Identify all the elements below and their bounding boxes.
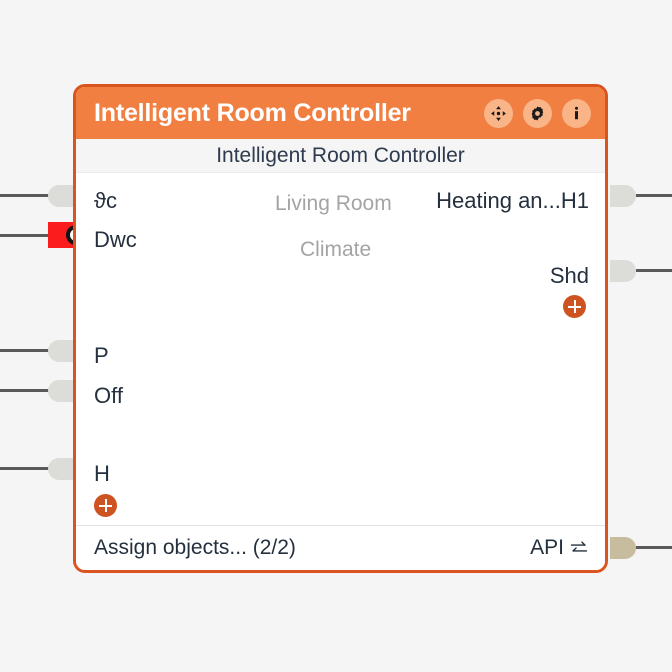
input-wire-p <box>0 349 50 352</box>
swap-icon <box>569 538 589 558</box>
node-footer: Assign objects... (2/2) API <box>76 525 605 570</box>
settings-button[interactable] <box>523 99 552 128</box>
input-wire-thetac <box>0 194 50 197</box>
api-button[interactable]: API <box>530 536 589 560</box>
input-port-thetac[interactable] <box>48 185 74 207</box>
input-port-h[interactable] <box>48 458 74 480</box>
add-output-button[interactable] <box>563 295 586 318</box>
input-label-p[interactable]: P <box>94 345 109 367</box>
input-port-p[interactable] <box>48 340 74 362</box>
move-button[interactable] <box>484 99 513 128</box>
output-wire-shd <box>636 269 672 272</box>
input-wire-off <box>0 389 50 392</box>
input-label-h[interactable]: H <box>94 463 110 485</box>
input-wire-dwc <box>0 234 50 237</box>
info-button[interactable] <box>562 99 591 128</box>
move-icon <box>490 105 507 122</box>
input-wire-h <box>0 467 50 470</box>
output-port-api[interactable] <box>610 537 636 559</box>
gear-icon <box>529 105 546 122</box>
input-port-off[interactable] <box>48 380 74 402</box>
output-wire-heating <box>636 194 672 197</box>
node-header[interactable]: Intelligent Room Controller <box>76 87 605 139</box>
output-port-shd[interactable] <box>610 260 636 282</box>
output-wire-api <box>636 546 672 549</box>
add-input-button[interactable] <box>94 494 117 517</box>
node-intelligent-room-controller[interactable]: Intelligent Room Controller <box>73 84 608 573</box>
input-label-off[interactable]: Off <box>94 385 123 407</box>
node-subtitle: Intelligent Room Controller <box>76 139 605 173</box>
context-label-climate: Climate <box>300 239 371 260</box>
output-label-heating[interactable]: Heating an...H1 <box>436 190 589 212</box>
node-title: Intelligent Room Controller <box>94 99 474 128</box>
info-icon <box>568 105 585 122</box>
output-label-shd[interactable]: Shd <box>550 265 589 287</box>
input-label-dwc[interactable]: Dwc <box>94 229 137 251</box>
output-port-heating[interactable] <box>610 185 636 207</box>
context-label-room: Living Room <box>275 193 392 214</box>
input-label-thetac[interactable]: ϑc <box>94 190 117 212</box>
node-body: ϑc Dwc P Off H Living Room Climate Heati… <box>76 173 605 525</box>
assign-objects-button[interactable]: Assign objects... (2/2) <box>94 536 296 560</box>
api-label: API <box>530 536 564 560</box>
node-editor-canvas: Intelligent Room Controller <box>0 0 672 672</box>
